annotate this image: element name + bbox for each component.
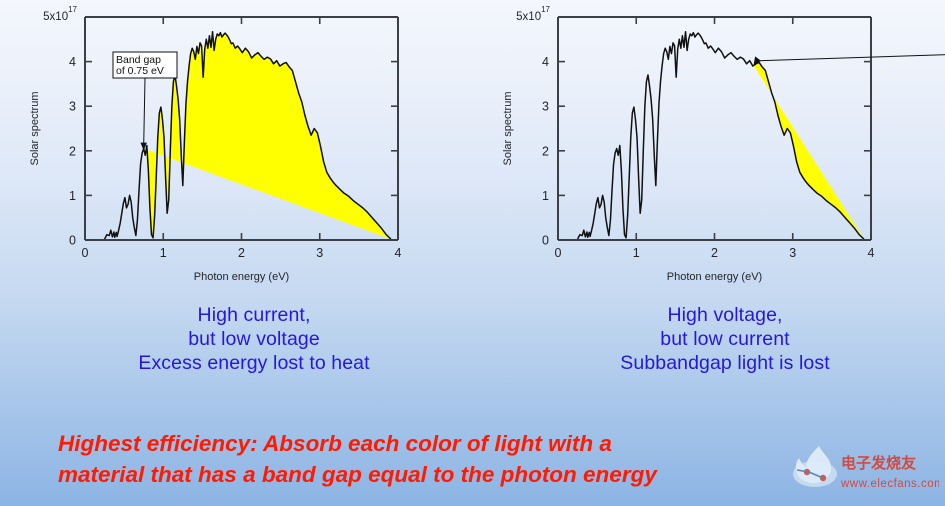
x-tick-label: 0: [555, 246, 562, 260]
y-axis-scale-label: 5x1017: [516, 5, 550, 24]
y-tick-label: 1: [542, 189, 549, 203]
x-tick-label: 2: [711, 246, 718, 260]
flame-icon: [793, 446, 837, 487]
y-axis-scale-label: 5x1017: [43, 5, 77, 24]
x-tick-label: 0: [82, 246, 89, 260]
x-tick-label: 1: [160, 246, 167, 260]
y-tick-label: 3: [542, 100, 549, 114]
x-tick-label: 2: [238, 246, 245, 260]
y-tick-label: 0: [542, 234, 549, 248]
y-tick-label: 4: [69, 55, 76, 69]
y-axis-title: Solar spectrum: [29, 92, 41, 166]
caption-left-line1: High current,: [34, 303, 474, 327]
caption-left: High current, but low voltage Excess ene…: [34, 303, 474, 375]
band-gap-label-line2: of 0.75 eV: [116, 65, 164, 77]
x-tick-label: 1: [633, 246, 640, 260]
headline-text: Highest efficiency: Absorb each color of…: [58, 428, 888, 490]
caption-left-line2: but low voltage: [34, 327, 474, 351]
caption-right: High voltage, but low current Subbandgap…: [505, 303, 945, 375]
band-gap-leader-line: [757, 45, 945, 61]
caption-right-line2: but low current: [505, 327, 945, 351]
x-axis-title: Photon energy (eV): [194, 271, 289, 283]
band-gap-leader-line: [144, 78, 145, 146]
watermark-site: www.elecfans.com: [840, 478, 939, 490]
watermark-logo: 电子发烧友 www.elecfans.com: [789, 438, 939, 500]
x-tick-label: 3: [789, 246, 796, 260]
slide-stage: 01234012345x1017Photon energy (eV)Solar …: [0, 0, 945, 506]
y-tick-label: 2: [69, 144, 76, 158]
y-axis-title: Solar spectrum: [502, 92, 514, 166]
y-tick-label: 3: [69, 100, 76, 114]
caption-left-line3: Excess energy lost to heat: [34, 351, 474, 375]
spectrum-curve: [578, 32, 864, 239]
headline-line2: material that has a band gap equal to th…: [58, 459, 888, 490]
watermark-brand: 电子发烧友: [841, 454, 916, 472]
x-tick-label: 4: [868, 246, 875, 260]
band-gap-annotation: Band gapof 0.75 eV: [113, 52, 177, 151]
y-tick-label: 1: [69, 189, 76, 203]
headline-line1: Highest efficiency: Absorb each color of…: [58, 428, 888, 459]
y-tick-label: 2: [542, 144, 549, 158]
chart-right: 01234012345x1017Photon energy (eV)Solar …: [473, 0, 945, 290]
caption-right-line1: High voltage,: [505, 303, 945, 327]
x-axis-title: Photon energy (eV): [667, 271, 762, 283]
x-tick-label: 3: [316, 246, 323, 260]
band-gap-annotation: Band gapof 2.5 eV: [754, 19, 945, 65]
chart-left: 01234012345x1017Photon energy (eV)Solar …: [0, 0, 472, 290]
y-tick-label: 4: [542, 55, 549, 69]
caption-right-line3: Subbandgap light is lost: [505, 351, 945, 375]
x-tick-label: 4: [395, 246, 402, 260]
y-tick-label: 0: [69, 234, 76, 248]
